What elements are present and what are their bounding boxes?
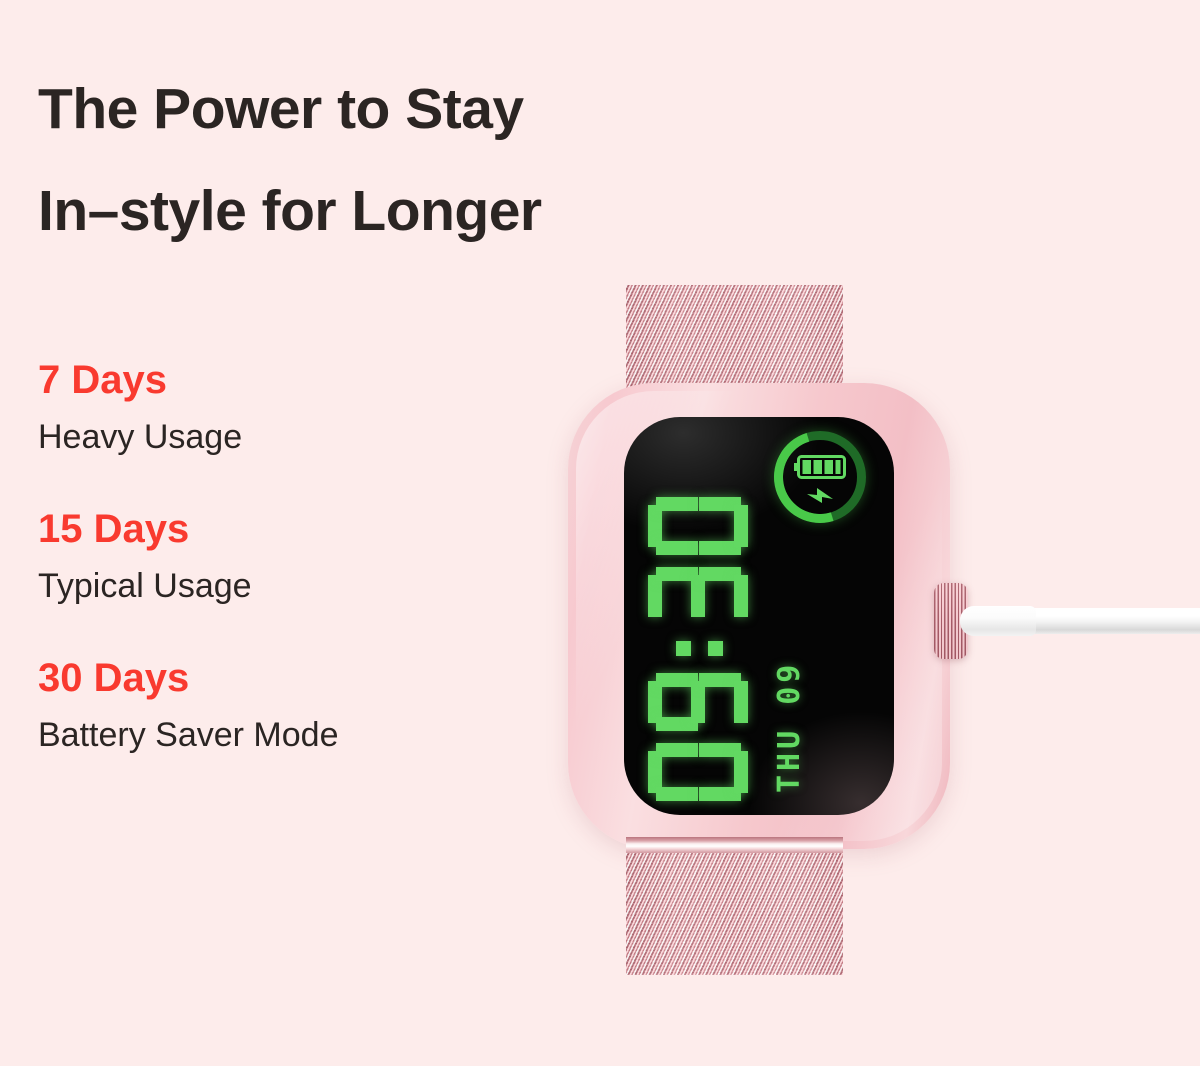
digit-hour-ones bbox=[648, 673, 748, 731]
spec-label: Battery Saver Mode bbox=[38, 711, 518, 759]
watch-time-display bbox=[648, 485, 748, 801]
spec-item-typical-usage: 15 Days Typical Usage bbox=[38, 505, 518, 610]
digit-minute-ones bbox=[648, 497, 748, 555]
page-headline: The Power to Stay In–style for Longer bbox=[38, 58, 738, 262]
digit-minute-tens bbox=[648, 567, 748, 625]
smartwatch-product-image: THU 09 bbox=[556, 275, 956, 975]
charging-indicator bbox=[774, 431, 866, 523]
digit-hour-tens bbox=[648, 743, 748, 801]
headline-line-1: The Power to Stay bbox=[38, 58, 738, 160]
spec-item-heavy-usage: 7 Days Heavy Usage bbox=[38, 356, 518, 461]
spec-label: Typical Usage bbox=[38, 562, 518, 610]
spec-item-battery-saver-mode: 30 Days Battery Saver Mode bbox=[38, 654, 518, 759]
watch-screen: THU 09 bbox=[624, 417, 894, 815]
battery-spec-list: 7 Days Heavy Usage 15 Days Typical Usage… bbox=[38, 356, 518, 759]
spec-value: 15 Days bbox=[38, 505, 518, 553]
spec-value: 7 Days bbox=[38, 356, 518, 404]
spec-label: Heavy Usage bbox=[38, 413, 518, 461]
charging-cable-connector bbox=[960, 606, 1036, 636]
watch-face: THU 09 bbox=[624, 417, 894, 815]
watch-case: THU 09 bbox=[568, 383, 950, 849]
watch-band-bottom bbox=[626, 853, 843, 975]
battery-icon bbox=[794, 455, 846, 479]
headline-line-2: In–style for Longer bbox=[38, 160, 738, 262]
lightning-bolt-icon bbox=[807, 487, 833, 504]
spec-value: 30 Days bbox=[38, 654, 518, 702]
time-colon bbox=[648, 635, 748, 661]
watch-date-display: THU 09 bbox=[772, 661, 807, 793]
